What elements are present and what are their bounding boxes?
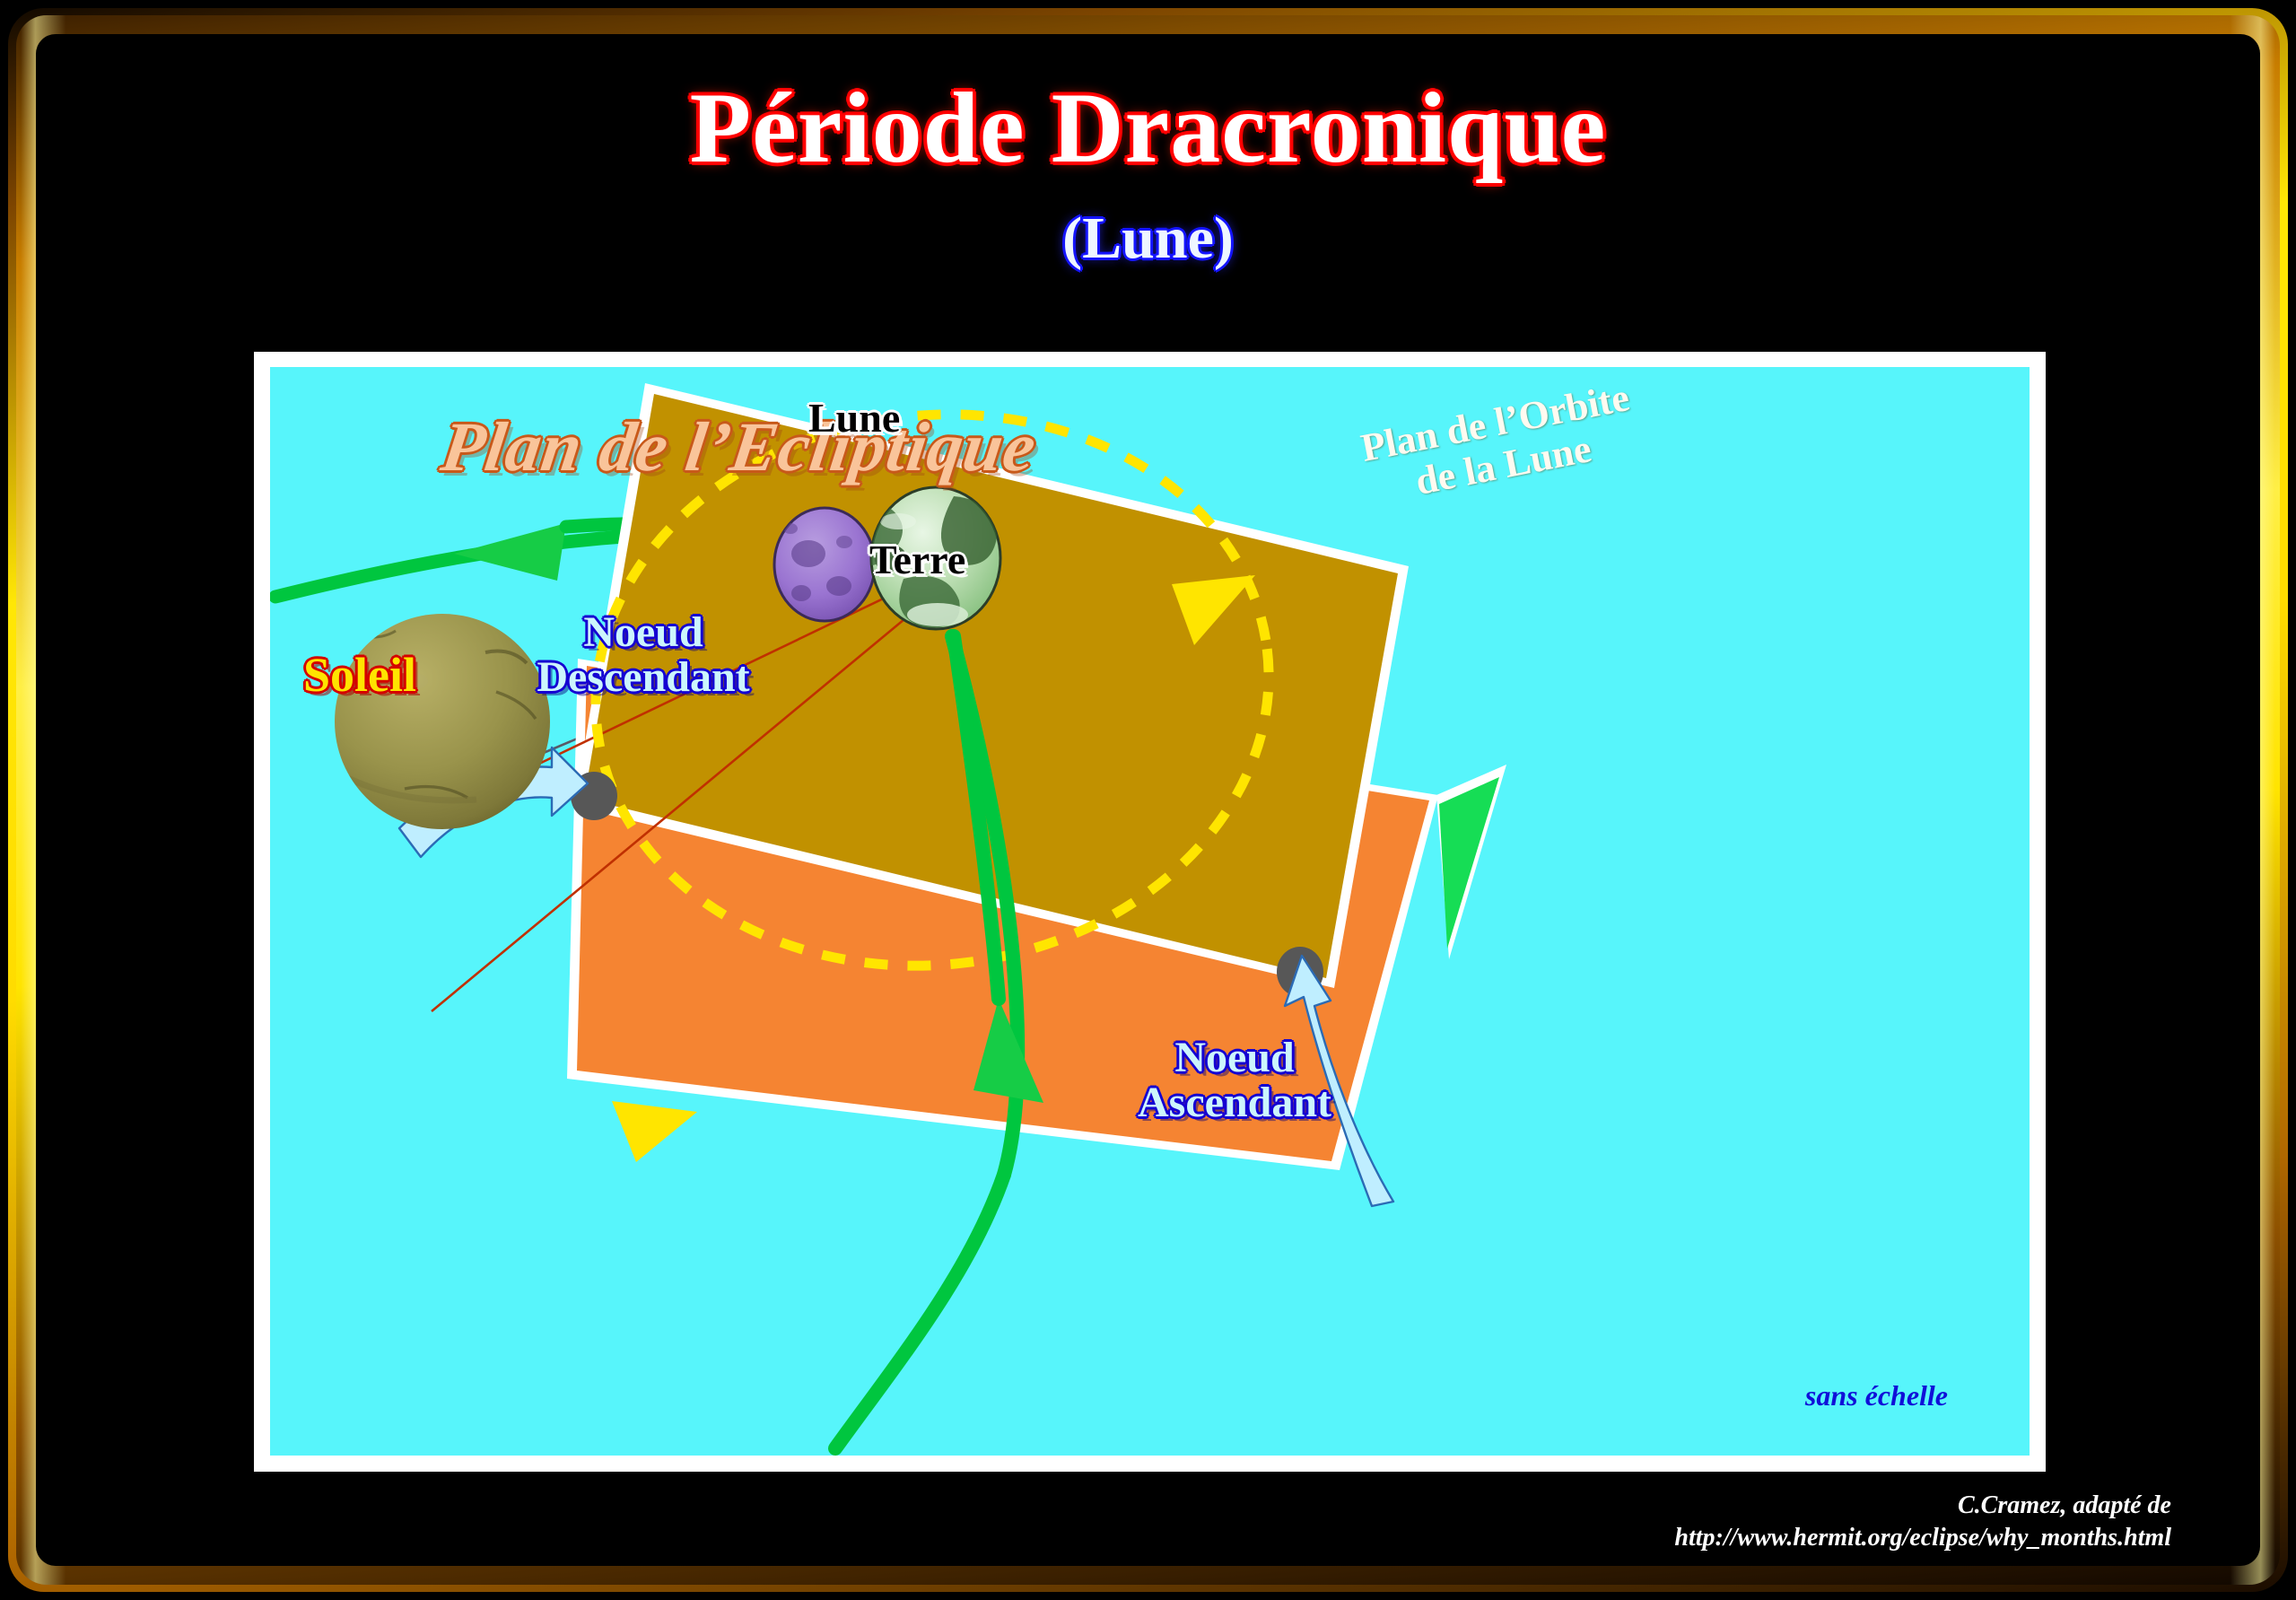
descending-node-label-line2: Descendant (537, 653, 749, 701)
scale-note: sans échelle (1607, 1379, 1948, 1412)
earth-label: Terre (869, 536, 965, 583)
ascending-node-label: NoeudAscendant (1100, 1036, 1369, 1125)
page-title: Période Dracronique (0, 77, 2296, 179)
green-wedge (1436, 765, 1506, 959)
diagram-graphics (270, 367, 2030, 1456)
orbit-direction-arrow-lower (612, 1101, 697, 1162)
diagram-frame: Plan de l’Ecliptique NoeudDescendant Noe… (254, 352, 2046, 1472)
slide-canvas: Période Dracronique (Lune) (0, 0, 2296, 1600)
credit-line-1: C.Cramez, adapté de (1958, 1491, 2171, 1519)
credit-block: C.Cramez, adapté de http://www.hermit.or… (0, 1490, 2171, 1554)
diagram-panel: Plan de l’Ecliptique NoeudDescendant Noe… (270, 367, 2030, 1456)
sun-label: Soleil (270, 647, 485, 703)
ascending-node-label-line1: Noeud (1174, 1034, 1294, 1081)
moon-label: Lune (808, 394, 900, 442)
page-subtitle: (Lune) (0, 205, 2296, 273)
descending-node-label-line1: Noeud (583, 608, 703, 656)
descending-node-label: NoeudDescendant (509, 610, 778, 700)
credit-line-2: http://www.hermit.org/eclipse/why_months… (1674, 1524, 2171, 1552)
ascending-node-label-line2: Ascendant (1138, 1079, 1331, 1126)
moon-body (774, 508, 875, 621)
